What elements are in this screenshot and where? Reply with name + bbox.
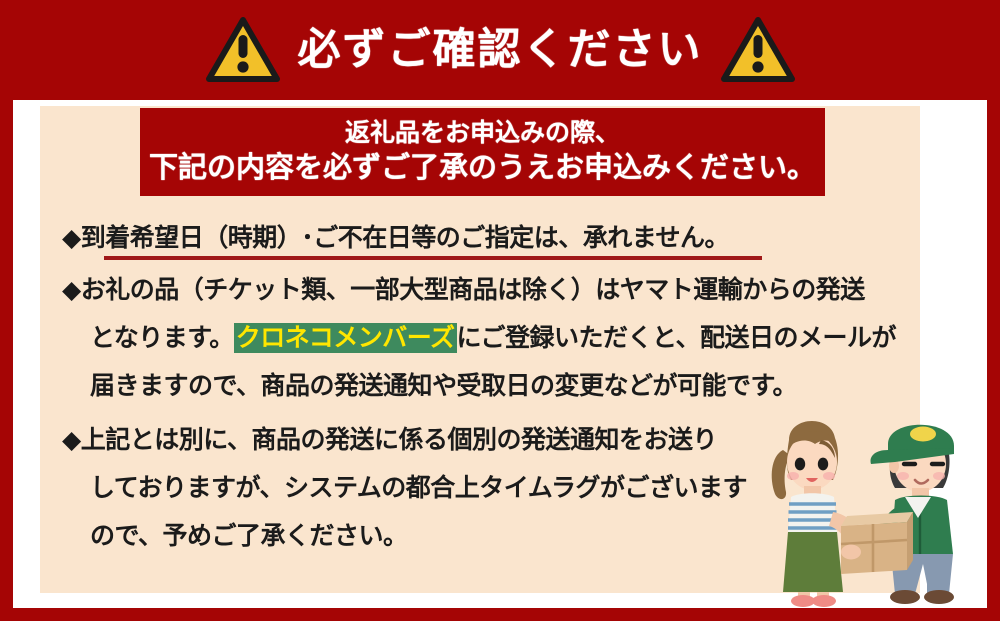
- frame-border-bottom: [0, 608, 1000, 621]
- bullet-3-line-3: ので、予めご了承ください。: [62, 512, 902, 560]
- bullet-2-text-a: お礼の品（チケット類、一部大型商品は除く）はヤマト運輸からの発送: [81, 276, 865, 304]
- bullet-marker: ◆: [62, 426, 81, 454]
- bullet-2-line-2: となります。クロネコメンバーズにご登録いただくと、配送日のメールが: [62, 314, 902, 362]
- bullet-item-1: ◆到着希望日（時期）･ご不在日等のご指定は、承れません。: [62, 214, 902, 260]
- bullet-item-2: ◆お礼の品（チケット類、一部大型商品は除く）はヤマト運輸からの発送 となります。…: [62, 266, 902, 410]
- notice-page: 必ずご確認ください 返礼品をお申込みの際、 下記の内容を必ずご了承のうえお申込み…: [0, 0, 1000, 621]
- notice-banner: 返礼品をお申込みの際、 下記の内容を必ずご了承のうえお申込みください。: [140, 108, 825, 196]
- bullet-2-line-3: 届きますので、商品の発送通知や受取日の変更などが可能です。: [62, 362, 902, 410]
- bullet-1-text: 到着希望日（時期）･ご不在日等のご指定は、承れません。: [81, 224, 729, 252]
- page-title: 必ずご確認ください: [298, 29, 703, 72]
- bullet-marker: ◆: [62, 224, 81, 252]
- bullet-3-text-a: 上記とは別に、商品の発送に係る個別の発送通知をお送り: [81, 426, 717, 454]
- bullet-2-line-1: ◆お礼の品（チケット類、一部大型商品は除く）はヤマト運輸からの発送: [62, 266, 902, 314]
- frame-border-left: [0, 0, 13, 621]
- bullet-3-text-c: ので、予めご了承ください。: [90, 522, 408, 550]
- bullet-2-text-d: 届きますので、商品の発送通知や受取日の変更などが可能です。: [90, 372, 797, 400]
- notice-banner-line-2: 下記の内容を必ずご了承のうえお申込みください。: [149, 152, 816, 185]
- bullet-3-text-b: しておりますが、システムの都合上タイムラグがございます: [90, 474, 747, 502]
- content-panel: 返礼品をお申込みの際、 下記の内容を必ずご了承のうえお申込みください。 ◆到着希…: [40, 106, 920, 593]
- warning-triangle-icon: [206, 17, 280, 83]
- bullet-marker: ◆: [62, 276, 81, 304]
- warning-triangle-icon: [721, 17, 795, 83]
- frame-border-right: [987, 0, 1000, 621]
- bullet-3-line-2: しておりますが、システムの都合上タイムラグがございます: [62, 464, 902, 512]
- bullet-3-line-1: ◆上記とは別に、商品の発送に係る個別の発送通知をお送り: [62, 416, 902, 464]
- notice-banner-line-1: 返礼品をお申込みの際、: [345, 119, 620, 148]
- bullet-item-3: ◆上記とは別に、商品の発送に係る個別の発送通知をお送り しておりますが、システム…: [62, 416, 902, 560]
- bullet-list: ◆到着希望日（時期）･ご不在日等のご指定は、承れません。 ◆お礼の品（チケット類…: [62, 214, 902, 566]
- header-banner: 必ずご確認ください: [0, 0, 1000, 100]
- bullet-1-line-1: ◆到着希望日（時期）･ご不在日等のご指定は、承れません。: [62, 214, 902, 262]
- kuroneko-members-highlight[interactable]: クロネコメンバーズ: [234, 323, 457, 353]
- bullet-2-text-b: となります。: [90, 324, 234, 352]
- bullet-2-text-c: にご登録いただくと、配送日のメールが: [457, 324, 897, 352]
